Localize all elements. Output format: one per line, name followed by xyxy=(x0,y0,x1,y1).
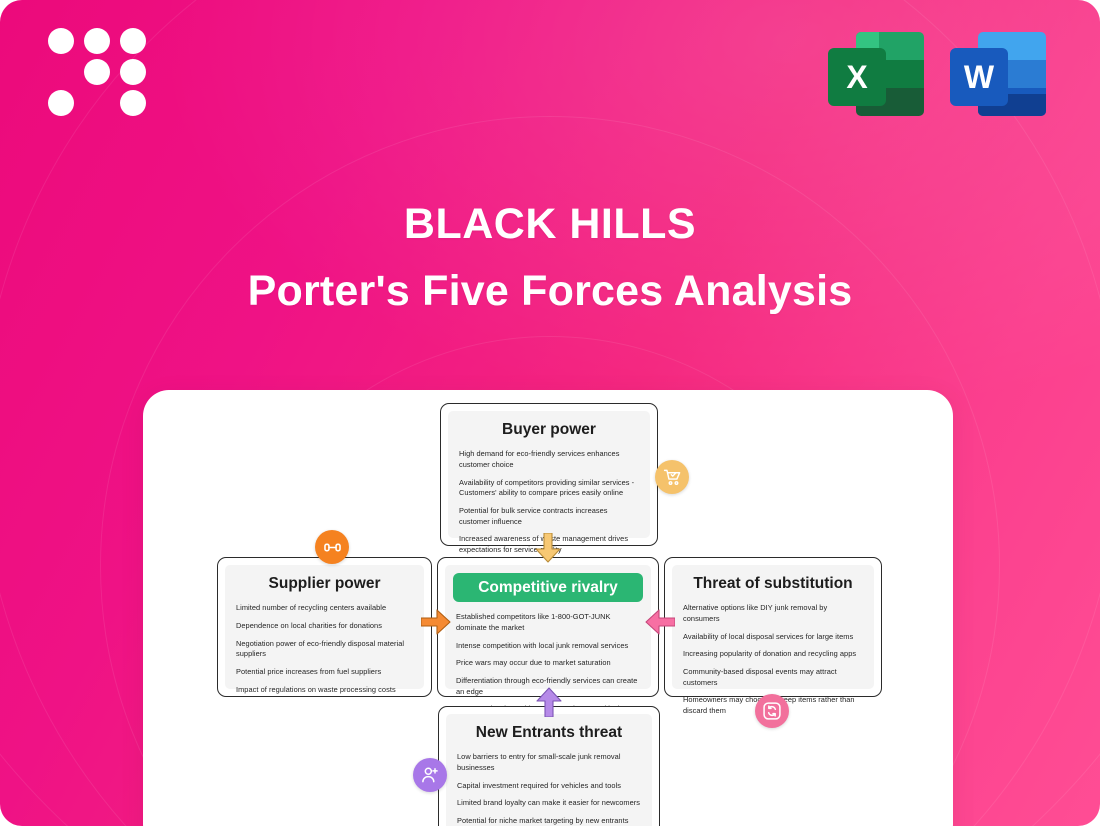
force-point: Potential for niche market targeting by … xyxy=(457,816,641,826)
force-point-list: Limited number of recycling centers avai… xyxy=(236,603,413,695)
force-point: Increasing popularity of donation and re… xyxy=(683,649,863,660)
link-icon[interactable] xyxy=(315,530,349,564)
force-point: Potential for bulk service contracts inc… xyxy=(459,506,639,527)
word-letter: W xyxy=(950,48,1008,106)
excel-letter: X xyxy=(828,48,886,106)
page-title: BLACK HILLS Porter's Five Forces Analysi… xyxy=(0,200,1100,316)
force-box-supplier-power[interactable]: Supplier power Limited number of recycli… xyxy=(217,557,432,697)
force-title: Threat of substitution xyxy=(683,575,863,592)
word-icon[interactable]: W xyxy=(950,26,1046,122)
force-box-inner: Supplier power Limited number of recycli… xyxy=(225,565,424,689)
add-user-icon[interactable] xyxy=(413,758,447,792)
logo-dot xyxy=(48,90,74,116)
force-box-threat-of-substitution[interactable]: Threat of substitution Alternative optio… xyxy=(664,557,882,697)
poster-canvas: X W BLACK HILLS Porter's Five Forces Ana… xyxy=(0,0,1100,826)
force-title: Supplier power xyxy=(236,575,413,592)
force-point: Impact of regulations on waste processin… xyxy=(236,685,413,696)
logo-dot xyxy=(120,28,146,54)
force-box-inner: New Entrants threat Low barriers to entr… xyxy=(446,714,652,826)
force-point: Established competitors like 1-800-GOT-J… xyxy=(456,612,640,633)
force-point: High demand for eco-friendly services en… xyxy=(459,449,639,470)
force-point: Limited brand loyalty can make it easier… xyxy=(457,798,641,809)
logo-dot xyxy=(84,28,110,54)
force-point: Dependence on local charities for donati… xyxy=(236,621,413,632)
excel-icon[interactable]: X xyxy=(828,26,924,122)
force-point: Availability of local disposal services … xyxy=(683,632,863,643)
force-point: Availability of competitors providing si… xyxy=(459,478,639,499)
force-box-competitive-rivalry[interactable]: Competitive rivalry Established competit… xyxy=(437,557,659,697)
logo-dot xyxy=(84,59,110,85)
force-title: New Entrants threat xyxy=(457,724,641,741)
force-point: Low barriers to entry for small-scale ju… xyxy=(457,752,641,773)
force-point: Community-based disposal events may attr… xyxy=(683,667,863,688)
force-box-inner: Competitive rivalry Established competit… xyxy=(445,565,651,689)
file-format-icons: X W xyxy=(828,26,1046,122)
force-box-inner: Threat of substitution Alternative optio… xyxy=(672,565,874,689)
force-point: Limited number of recycling centers avai… xyxy=(236,603,413,614)
title-line-2: Porter's Five Forces Analysis xyxy=(0,267,1100,316)
force-box-buyer-power[interactable]: Buyer power High demand for eco-friendly… xyxy=(440,403,658,546)
force-point: Capital investment required for vehicles… xyxy=(457,781,641,792)
force-point: Alternative options like DIY junk remova… xyxy=(683,603,863,624)
shopping-cart-icon[interactable] xyxy=(655,460,689,494)
force-title: Competitive rivalry xyxy=(453,573,643,602)
force-box-new-entrants-threat[interactable]: New Entrants threat Low barriers to entr… xyxy=(438,706,660,826)
force-point: Potential price increases from fuel supp… xyxy=(236,667,413,678)
title-line-1: BLACK HILLS xyxy=(0,200,1100,249)
force-point-list: Low barriers to entry for small-scale ju… xyxy=(457,752,641,826)
refresh-icon[interactable] xyxy=(755,694,789,728)
force-point: Intense competition with local junk remo… xyxy=(456,641,640,652)
force-title: Buyer power xyxy=(459,421,639,438)
dot-grid-logo xyxy=(48,28,146,116)
force-point: Negotiation power of eco-friendly dispos… xyxy=(236,639,413,660)
logo-dot xyxy=(48,28,74,54)
logo-dot xyxy=(120,59,146,85)
force-box-inner: Buyer power High demand for eco-friendly… xyxy=(448,411,650,538)
logo-dot xyxy=(120,90,146,116)
force-point: Price wars may occur due to market satur… xyxy=(456,658,640,669)
